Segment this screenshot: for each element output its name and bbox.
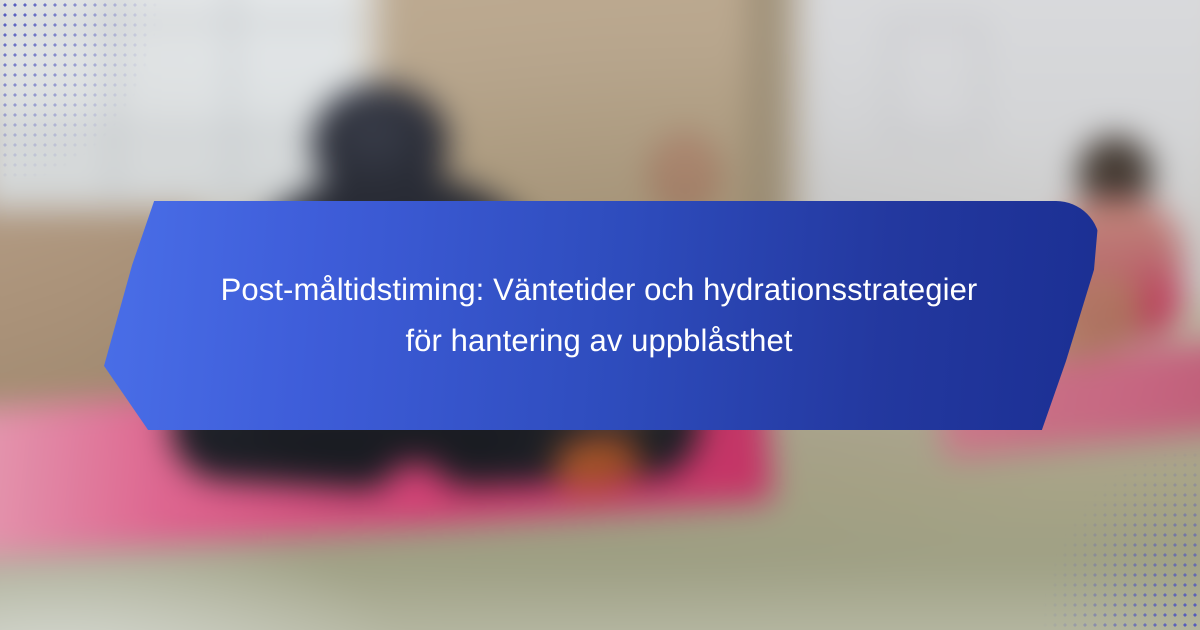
- page-title: Post-måltidstiming: Väntetider och hydra…: [210, 265, 988, 365]
- title-banner-inner: Post-måltidstiming: Väntetider och hydra…: [98, 265, 1100, 365]
- share-card-canvas: Post-måltidstiming: Väntetider och hydra…: [0, 0, 1200, 630]
- title-banner: Post-måltidstiming: Väntetider och hydra…: [98, 201, 1100, 430]
